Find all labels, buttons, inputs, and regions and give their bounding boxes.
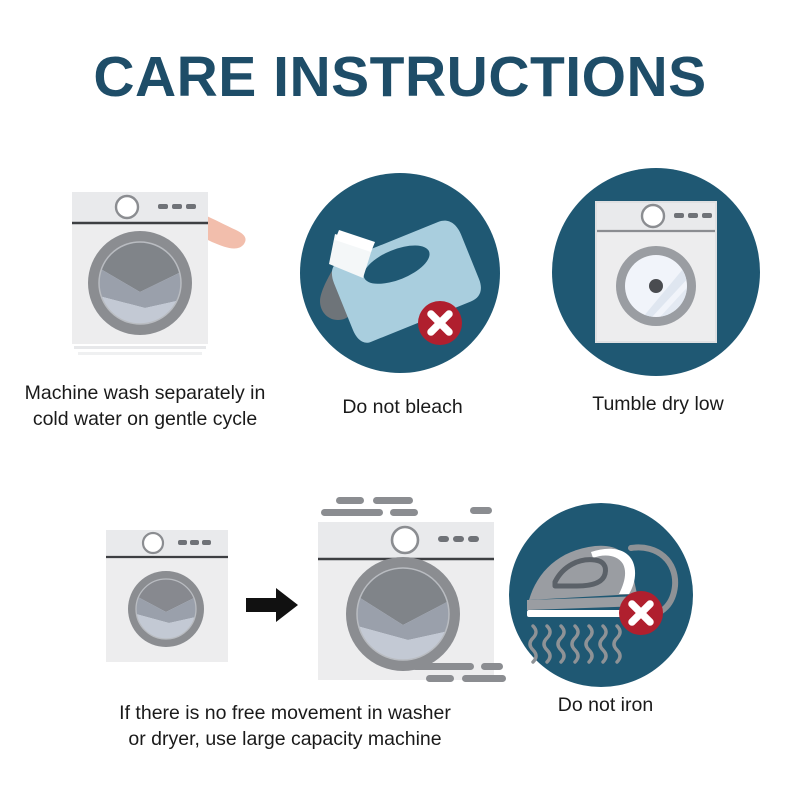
caption-line: Machine wash separately in — [0, 380, 290, 406]
caption-line: If there is no free movement in washer — [60, 700, 510, 726]
caption-line: Do not bleach — [295, 394, 510, 420]
motion-lines-top — [321, 497, 492, 516]
care-item-tumble-dry: Tumble dry low — [548, 164, 768, 384]
drum-center-dot — [649, 279, 663, 293]
bleach-bottle-svg — [295, 168, 510, 383]
panel-dash-2 — [172, 204, 182, 209]
bleach-bottle-icon — [295, 168, 510, 383]
x-mark-badge — [619, 591, 663, 635]
large-panel-dash-1 — [438, 536, 449, 542]
panel-dash-1 — [158, 204, 168, 209]
caption-line: Tumble dry low — [548, 391, 768, 417]
large-panel-dash-2 — [453, 536, 464, 542]
washing-machine-hand-svg — [0, 168, 290, 373]
washer-base-1 — [74, 346, 206, 349]
caption-line: Do not iron — [503, 692, 708, 718]
washer-base-2 — [78, 352, 202, 355]
iron-steam-icon — [503, 500, 708, 690]
small-to-large-washer-icon — [60, 478, 510, 693]
small-washer — [106, 530, 228, 662]
panel-dash-3 — [186, 204, 196, 209]
large-washer-dial — [392, 527, 418, 553]
iron-steam-svg — [503, 500, 708, 690]
caption-tumble-dry: Tumble dry low — [548, 391, 768, 417]
small-panel-dash-2 — [190, 540, 199, 545]
care-item-do-not-bleach: Do not bleach — [295, 168, 510, 383]
caption-do-not-bleach: Do not bleach — [295, 394, 510, 420]
caption-do-not-iron: Do not iron — [503, 692, 708, 718]
tumble-dryer-svg — [548, 164, 768, 384]
panel-dash-2 — [688, 213, 698, 218]
small-panel-dash-3 — [202, 540, 211, 545]
tumble-dryer-icon — [548, 164, 768, 384]
arrow-right-icon — [246, 588, 298, 622]
panel-dash-1 — [674, 213, 684, 218]
washing-machine-hand-icon — [0, 168, 290, 373]
care-item-machine-wash: Machine wash separately in cold water on… — [0, 168, 290, 373]
caption-machine-wash: Machine wash separately in cold water on… — [0, 380, 290, 432]
x-mark-badge — [418, 301, 462, 345]
dryer-dial — [642, 205, 664, 227]
care-instructions-infographic: CARE INSTRUCTIONS — [0, 0, 800, 800]
small-panel-dash-1 — [178, 540, 187, 545]
capacity-svg — [60, 478, 510, 693]
panel-dash-3 — [702, 213, 712, 218]
large-panel-dash-3 — [468, 536, 479, 542]
caption-large-capacity: If there is no free movement in washer o… — [60, 700, 510, 752]
large-washer — [318, 497, 506, 682]
care-item-do-not-iron: Do not iron — [503, 500, 708, 690]
washer-dial — [116, 196, 138, 218]
caption-line: cold water on gentle cycle — [0, 406, 290, 432]
caption-line: or dryer, use large capacity machine — [60, 726, 510, 752]
small-washer-dial — [143, 533, 163, 553]
care-item-large-capacity: If there is no free movement in washer o… — [60, 478, 510, 693]
page-title: CARE INSTRUCTIONS — [0, 46, 800, 108]
